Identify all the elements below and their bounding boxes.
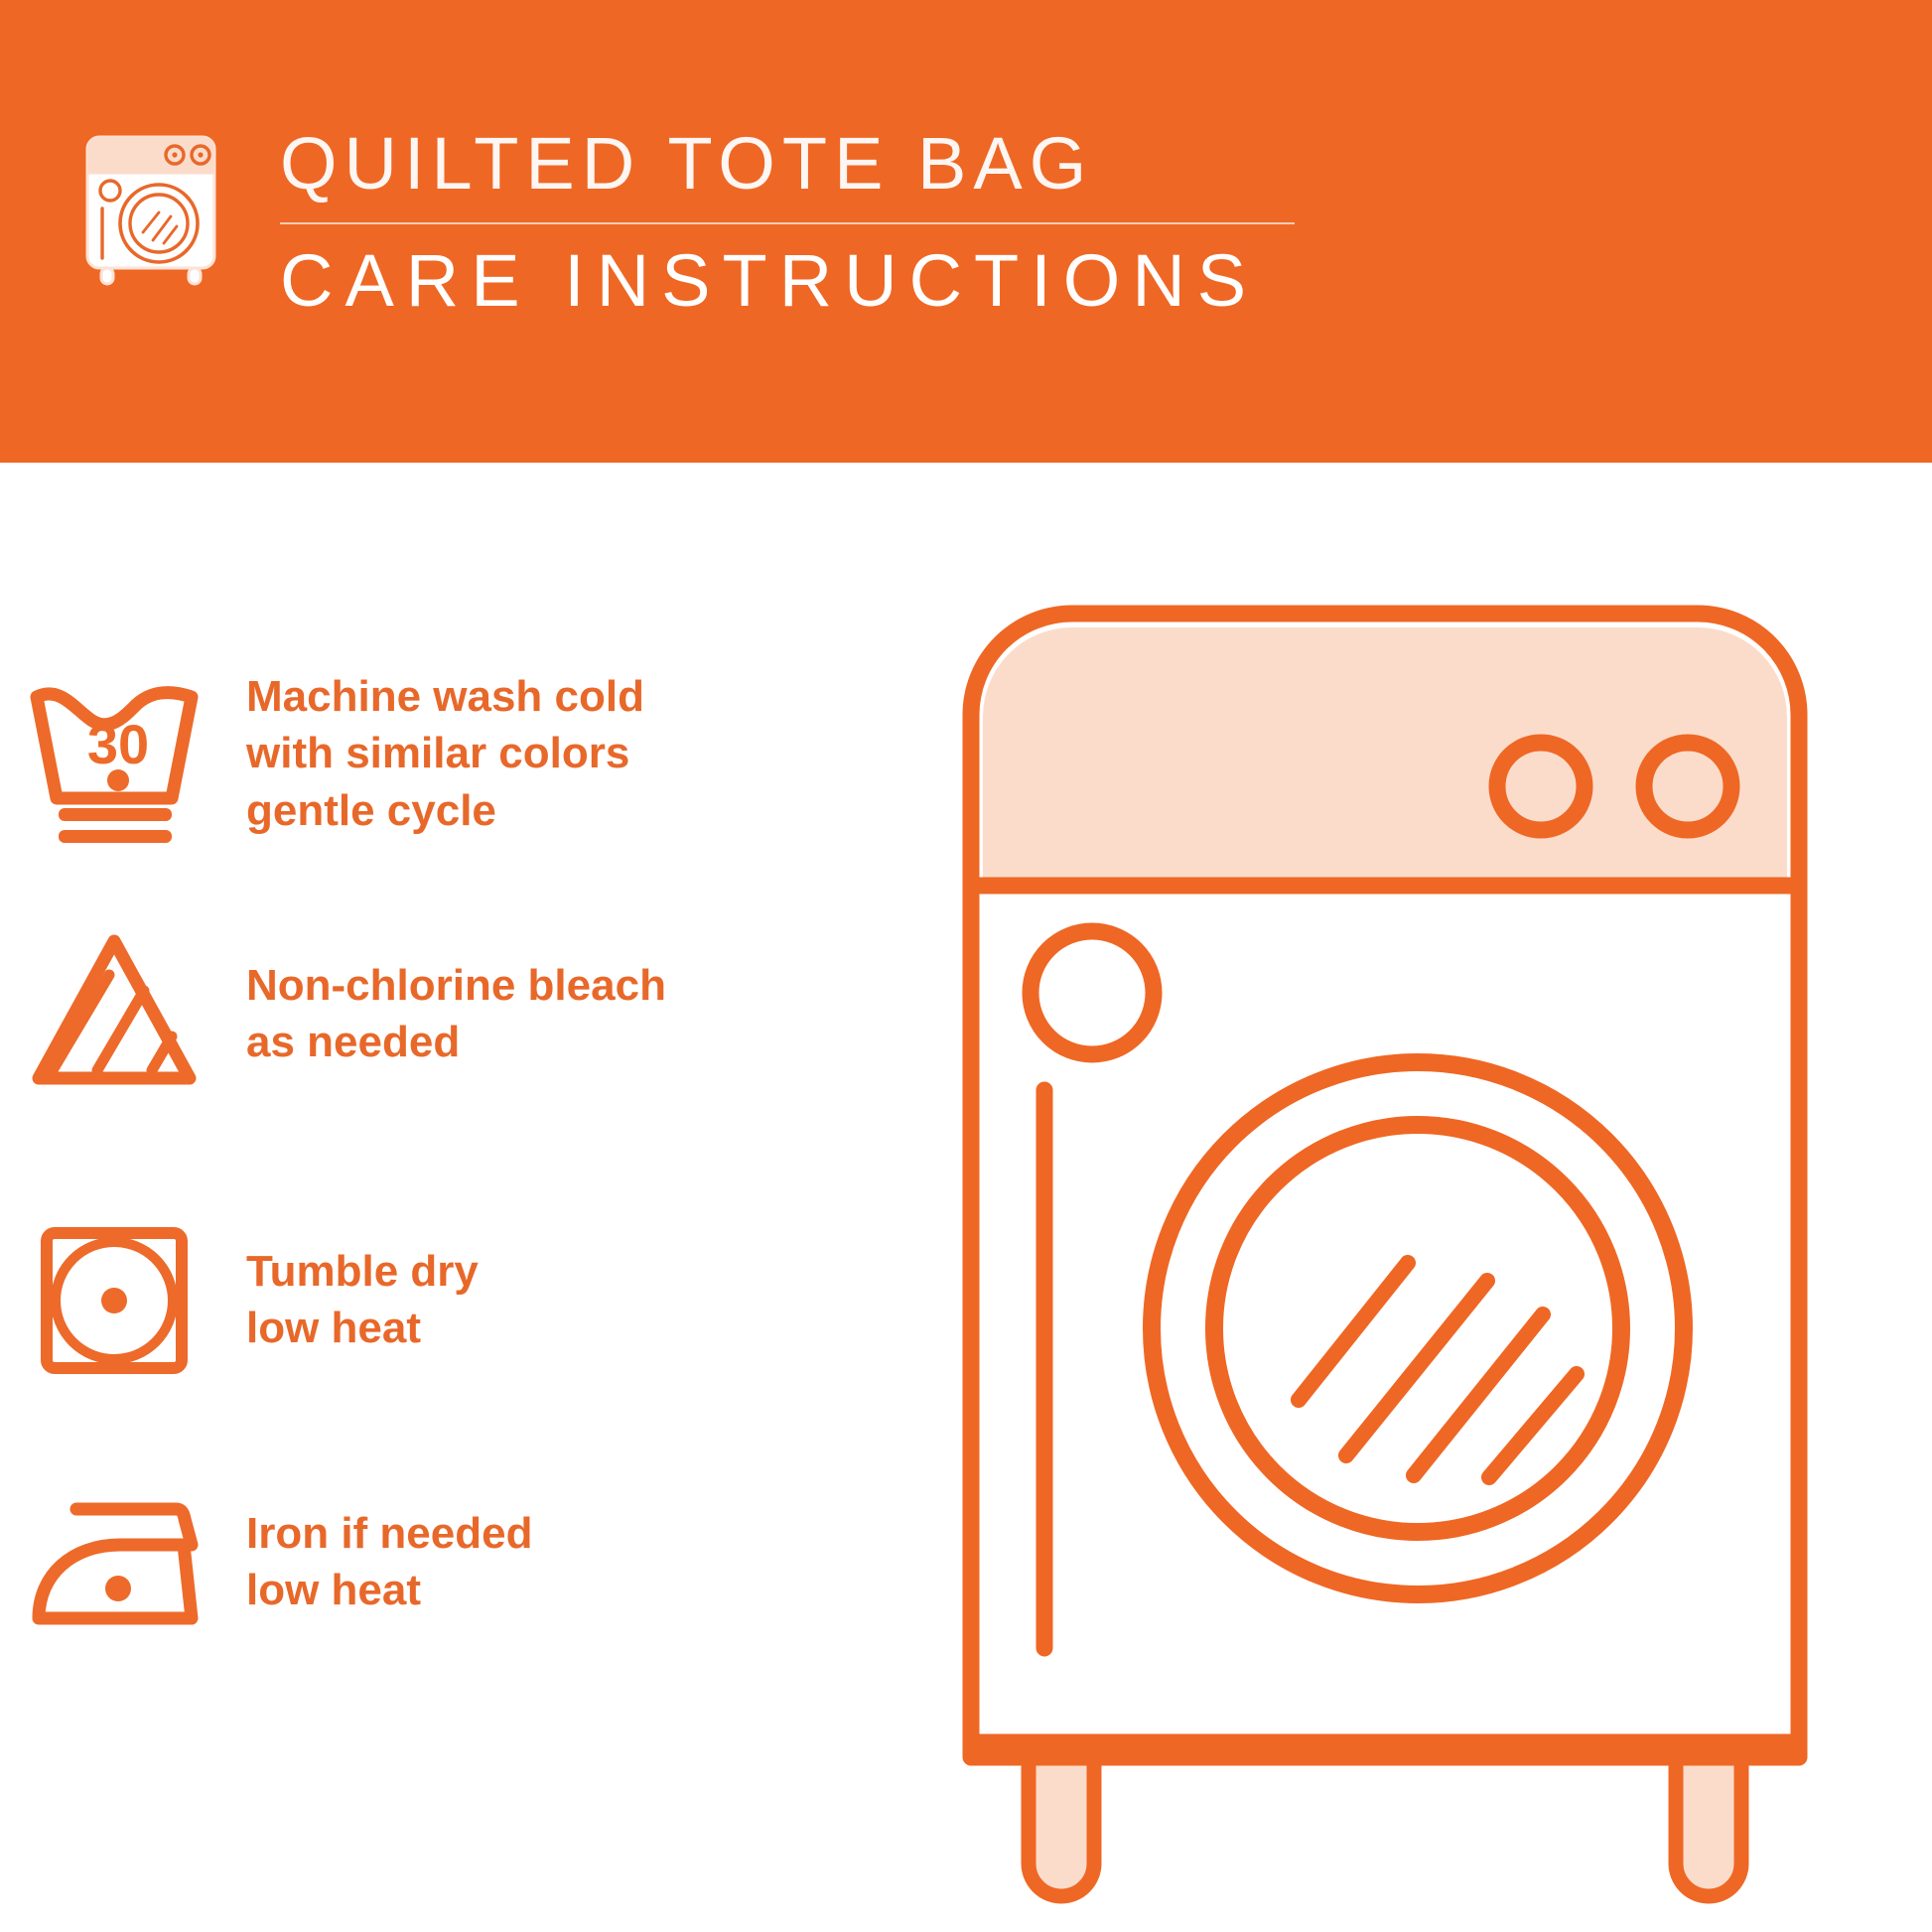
washing-machine-illustration	[953, 596, 1886, 1906]
care-item-bleach: Non-chlorine bleach as needed	[0, 899, 894, 1128]
washing-machine-icon	[77, 129, 226, 288]
care-label-line: with similar colors	[246, 725, 644, 781]
page-title: QUILTED TOTE BAG	[280, 127, 1322, 201]
title-divider	[280, 222, 1295, 224]
page-subtitle: CARE INSTRUCTIONS	[280, 244, 1322, 318]
care-item-label: Iron if needed low heat	[228, 1505, 532, 1618]
care-item-tumble-dry: Tumble dry low heat	[0, 1185, 894, 1414]
care-item-machine-wash: 30 Machine wash cold with similar colors…	[0, 639, 894, 868]
bleach-triangle-icon	[0, 909, 228, 1118]
wash-temperature-value: 30	[87, 713, 149, 775]
care-item-iron: Iron if needed low heat	[0, 1448, 894, 1676]
care-label-line: gentle cycle	[246, 782, 644, 839]
care-item-label: Tumble dry low heat	[228, 1243, 479, 1356]
care-label-line: Non-chlorine bleach	[246, 957, 666, 1014]
care-label-line: Tumble dry	[246, 1243, 479, 1300]
iron-low-heat-icon	[0, 1457, 228, 1666]
care-label-line: as needed	[246, 1014, 666, 1070]
care-label-line: low heat	[246, 1562, 532, 1618]
header-banner: QUILTED TOTE BAG CARE INSTRUCTIONS	[0, 0, 1932, 463]
machine-knob-right	[1644, 743, 1731, 830]
tumble-dry-low-icon	[0, 1195, 228, 1404]
care-item-label: Machine wash cold with similar colors ge…	[228, 668, 644, 839]
header-text-block: QUILTED TOTE BAG CARE INSTRUCTIONS	[280, 127, 1322, 318]
care-label-line: low heat	[246, 1300, 479, 1356]
machine-knob-left	[1497, 743, 1585, 830]
machine-indicator-circle	[1031, 931, 1154, 1054]
care-label-line: Iron if needed	[246, 1505, 532, 1562]
wash-tub-30-icon: 30	[0, 649, 228, 858]
care-item-label: Non-chlorine bleach as needed	[228, 957, 666, 1070]
care-instructions-list: 30 Machine wash cold with similar colors…	[0, 463, 894, 1932]
care-label-line: Machine wash cold	[246, 668, 644, 725]
